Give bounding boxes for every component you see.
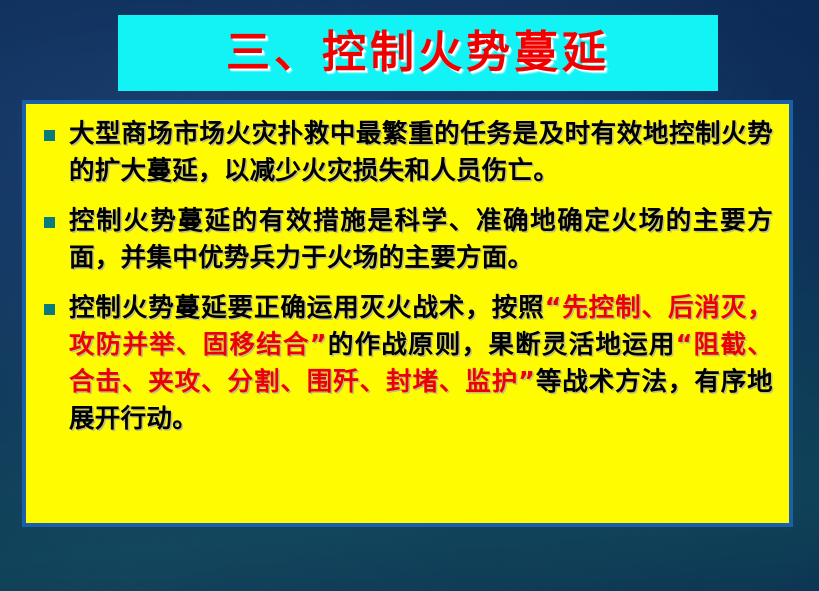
slide-title-banner: 三、控制火势蔓延 bbox=[118, 15, 718, 91]
bullet-text-3: 控制火势蔓延要正确运用灭火战术，按照“先控制、后消灭，攻防并举、固移结合”的作战… bbox=[69, 290, 773, 438]
body-phrase: 大型商场市场火灾扑救中最繁重的任务是及时有效地控制火势的扩大蔓延，以减少火灾损失… bbox=[69, 119, 773, 186]
body-phrase: 的作战原则，果断灵活地运用 bbox=[327, 330, 676, 360]
square-bullet-icon bbox=[44, 130, 55, 141]
presentation-slide: 三、控制火势蔓延 大型商场市场火灾扑救中最繁重的任务是及时有效地控制火势的扩大蔓… bbox=[0, 0, 819, 591]
bullet-text-1: 大型商场市场火灾扑救中最繁重的任务是及时有效地控制火势的扩大蔓延，以减少火灾损失… bbox=[69, 116, 773, 190]
square-bullet-icon bbox=[44, 217, 55, 228]
bullet-item-2: 控制火势蔓延的有效措施是科学、准确地确定火场的主要方面，并集中优势兵力于火场的主… bbox=[36, 203, 773, 277]
bullet-text-2: 控制火势蔓延的有效措施是科学、准确地确定火场的主要方面，并集中优势兵力于火场的主… bbox=[69, 203, 773, 277]
body-phrase: 控制火势蔓延的有效措施是科学、准确地确定火场的主要方面，并集中优势兵力于火场的主… bbox=[69, 206, 773, 273]
square-bullet-icon bbox=[44, 304, 55, 315]
bullet-item-1: 大型商场市场火灾扑救中最繁重的任务是及时有效地控制火势的扩大蔓延，以减少火灾损失… bbox=[36, 116, 773, 190]
bullet-item-3: 控制火势蔓延要正确运用灭火战术，按照“先控制、后消灭，攻防并举、固移结合”的作战… bbox=[36, 290, 773, 438]
slide-title: 三、控制火势蔓延 bbox=[226, 31, 610, 75]
content-panel: 大型商场市场火灾扑救中最繁重的任务是及时有效地控制火势的扩大蔓延，以减少火灾损失… bbox=[22, 100, 793, 527]
body-phrase: 控制火势蔓延要正确运用灭火战术，按照 bbox=[69, 293, 545, 323]
